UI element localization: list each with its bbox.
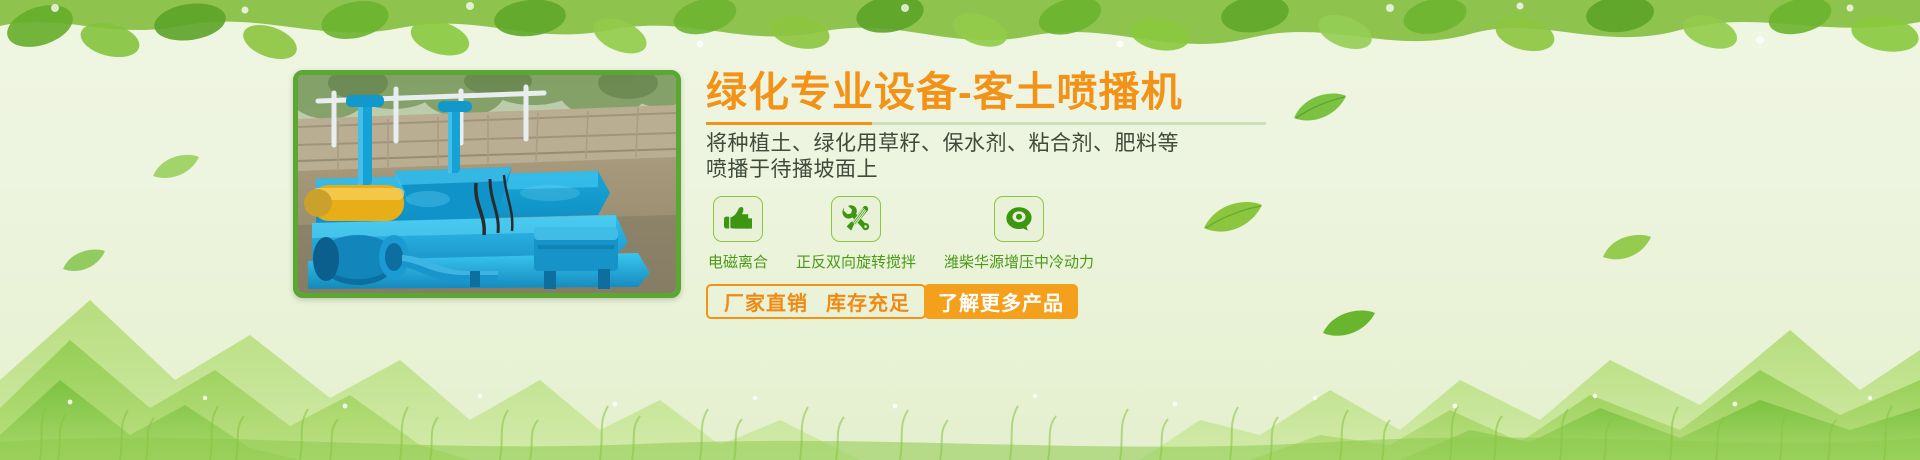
engine-gear-icon xyxy=(1004,206,1034,232)
engine-gear-icon-box xyxy=(994,196,1044,242)
promo-text-right: 库存充足 xyxy=(826,287,910,316)
subtitle-line-1: 将种植土、绿化用草籽、保水剂、粘合剂、肥料等 xyxy=(706,131,1286,157)
promo-text-left: 厂家直销 xyxy=(724,287,808,316)
learn-more-button[interactable]: 了解更多产品 xyxy=(924,284,1078,319)
feature-item-electromagnetic-clutch[interactable]: 电磁离合 xyxy=(708,196,768,272)
floating-leaf-icon xyxy=(150,150,202,184)
feature-list: 电磁离合 正反 xyxy=(706,196,1286,272)
floating-leaf-icon xyxy=(60,245,108,277)
product-photo-image xyxy=(298,75,676,293)
promo-badge: 厂家直销 库存充足 xyxy=(706,284,926,319)
thumbs-up-icon-box xyxy=(713,196,763,242)
floating-leaf-icon xyxy=(1290,88,1350,128)
cta-row: 厂家直销 库存充足 了解更多产品 xyxy=(706,284,1286,319)
floating-leaf-icon xyxy=(1600,230,1654,266)
product-photo xyxy=(298,75,676,293)
feature-item-bidirectional-mixing[interactable]: 正反双向旋转搅拌 xyxy=(796,196,916,272)
grass-decoration xyxy=(0,340,1920,460)
wrench-screwdriver-icon xyxy=(841,205,871,233)
feature-item-weichai-power[interactable]: 潍柴华源增压中冷动力 xyxy=(944,196,1094,272)
subtitle-line-2: 喷播于待播坡面上 xyxy=(706,157,1286,183)
feature-label: 潍柴华源增压中冷动力 xyxy=(944,251,1094,272)
title-divider xyxy=(706,122,1266,125)
floating-leaf-icon xyxy=(1320,305,1378,343)
wrench-screwdriver-icon-box xyxy=(831,196,881,242)
page-title: 绿化专业设备-客土喷播机 xyxy=(706,68,1286,117)
feature-label: 正反双向旋转搅拌 xyxy=(796,251,916,272)
banner-content: 绿化专业设备-客土喷播机 将种植土、绿化用草籽、保水剂、粘合剂、肥料等 喷播于待… xyxy=(706,68,1286,319)
product-photo-frame[interactable] xyxy=(293,70,681,298)
thumbs-up-icon xyxy=(723,206,753,232)
promo-banner: 绿化专业设备-客土喷播机 将种植土、绿化用草籽、保水剂、粘合剂、肥料等 喷播于待… xyxy=(0,0,1920,460)
feature-label: 电磁离合 xyxy=(708,251,768,272)
